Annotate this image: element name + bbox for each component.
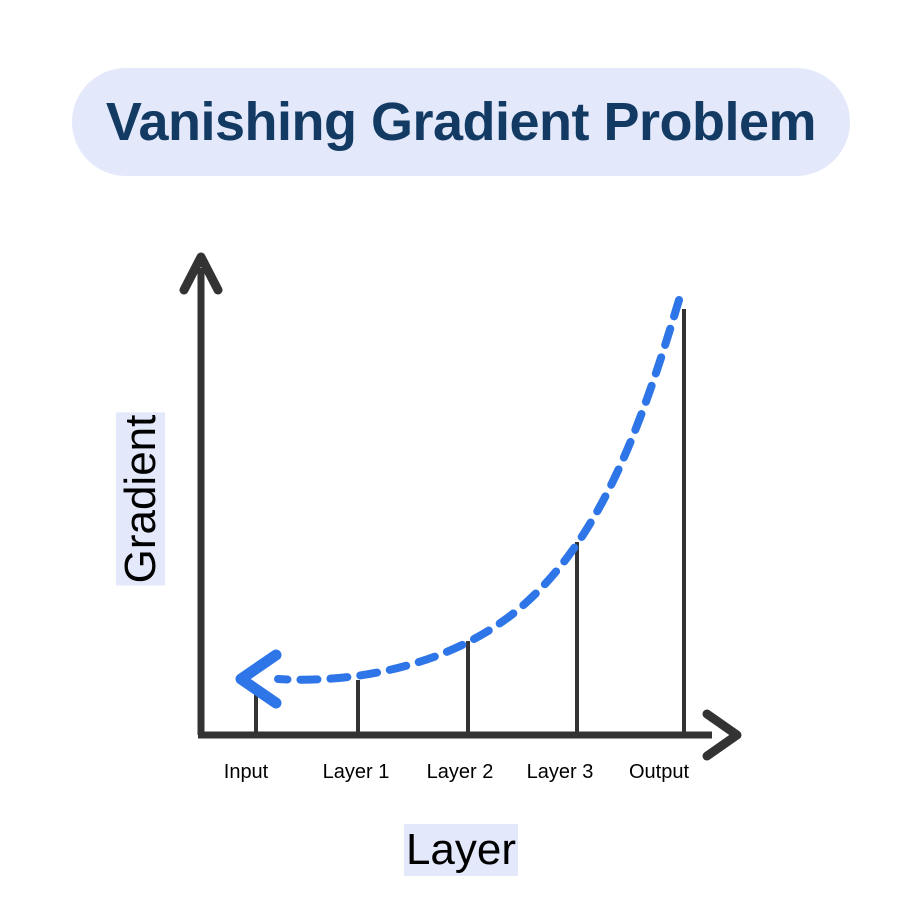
y-axis-title: Gradient bbox=[119, 413, 163, 586]
x-tick-label-layer-3: Layer 3 bbox=[527, 761, 594, 784]
x-tick-label-layer-2: Layer 2 bbox=[427, 761, 494, 784]
y-axis-title-text: Gradient bbox=[116, 413, 165, 586]
chart-plot-area: Input Layer 1 Layer 2 Layer 3 Output Gra… bbox=[0, 0, 922, 922]
x-tick-label-input: Input bbox=[224, 761, 268, 784]
figure-canvas: Vanishing Gradient Problem Input Lay bbox=[0, 0, 922, 922]
arrow-left-icon bbox=[241, 655, 276, 703]
x-axis-title: Layer bbox=[404, 824, 518, 876]
x-tick-label-layer-1: Layer 1 bbox=[323, 761, 390, 784]
x-tick-label-output: Output bbox=[629, 761, 689, 784]
x-axis-title-text: Layer bbox=[404, 824, 518, 876]
gradient-flow-curve bbox=[278, 300, 679, 680]
